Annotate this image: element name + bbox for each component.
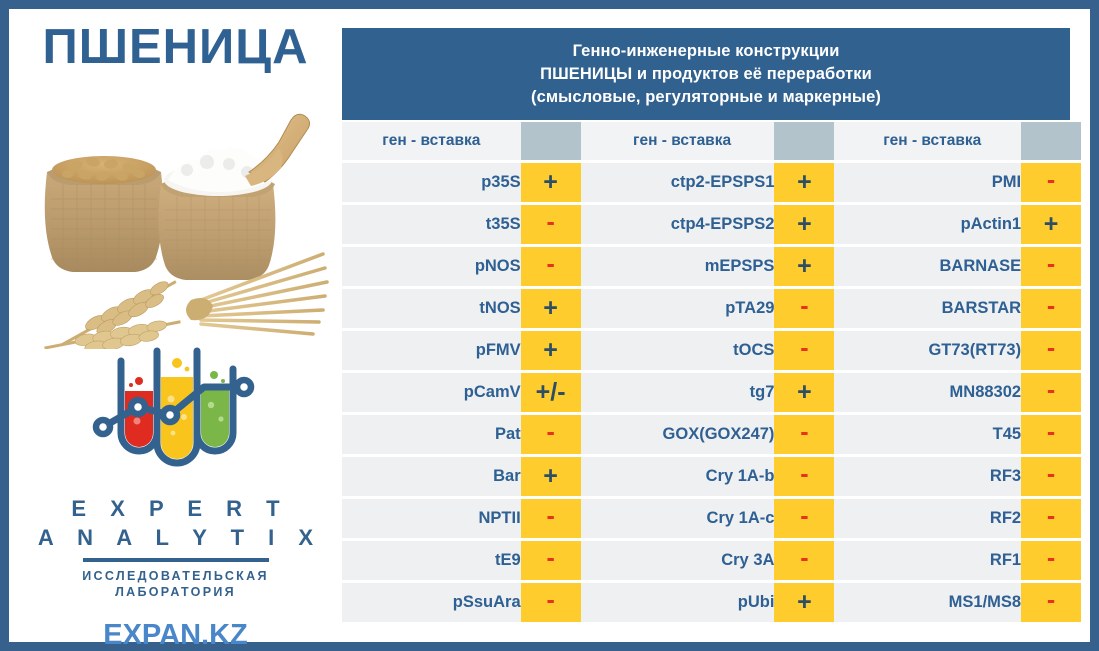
gene-marker-cell: +: [774, 373, 834, 415]
gene-constructs-table: ген - вставкаген - вставкаген - вставкаp…: [342, 122, 1081, 625]
gene-marker-cell: +: [521, 331, 581, 373]
column-header-marker-2: [774, 122, 834, 163]
gene-marker-cell: +/-: [521, 373, 581, 415]
column-gap-1: [581, 541, 590, 583]
column-gap-2: [834, 541, 843, 583]
gene-name-cell: Cry 1A-c: [590, 499, 775, 541]
table-title-line-3: (смысловые, регуляторные и маркерные): [531, 86, 881, 109]
gene-name-cell: ctp4-EPSPS2: [590, 205, 775, 247]
table-title-line-2: ПШЕНИЦЫ и продуктов её переработки: [540, 63, 872, 86]
gene-name-cell: MN88302: [843, 373, 1021, 415]
gene-name-cell: GT73(RT73): [843, 331, 1021, 373]
gene-name-cell: tg7: [590, 373, 775, 415]
column-header-marker-1: [521, 122, 581, 163]
marker-symbol: -: [1047, 460, 1055, 488]
gene-name-cell: mEPSPS: [590, 247, 775, 289]
gene-marker-cell: +: [774, 205, 834, 247]
gene-marker-cell: -: [774, 457, 834, 499]
gene-name-cell: pActin1: [843, 205, 1021, 247]
gene-marker-cell: -: [1021, 541, 1081, 583]
marker-symbol: -: [546, 418, 554, 446]
gene-marker-cell: +: [774, 583, 834, 625]
gene-name-cell: Bar: [342, 457, 521, 499]
column-gap-1: [581, 205, 590, 247]
gene-name-cell: pUbi: [590, 583, 775, 625]
logo-subtitle-line1: ИССЛЕДОВАТЕЛЬСКАЯ: [9, 568, 342, 584]
gene-name-cell: RF1: [843, 541, 1021, 583]
marker-symbol: +: [543, 462, 558, 490]
gene-name-cell: RF3: [843, 457, 1021, 499]
marker-symbol: -: [800, 544, 808, 572]
table-row: pFMV+tOCS-GT73(RT73)-: [342, 331, 1081, 373]
column-gap-2: [834, 415, 843, 457]
column-gap-2: [834, 331, 843, 373]
column-header-gene-insert-1: ген - вставка: [342, 122, 521, 163]
gene-marker-cell: +: [521, 457, 581, 499]
column-header-gene-insert-3: ген - вставка: [843, 122, 1021, 163]
table-row: pNOS-mEPSPS+BARNASE-: [342, 247, 1081, 289]
marker-symbol: -: [800, 292, 808, 320]
marker-symbol: -: [546, 250, 554, 278]
column-gap-2: [834, 122, 843, 163]
gene-marker-cell: +: [774, 247, 834, 289]
marker-symbol: -: [546, 502, 554, 530]
column-gap-2: [834, 247, 843, 289]
column-gap-2: [834, 289, 843, 331]
gene-marker-cell: -: [1021, 163, 1081, 205]
gene-marker-cell: +: [521, 163, 581, 205]
column-gap-1: [581, 122, 590, 163]
gene-marker-cell: -: [521, 583, 581, 625]
column-gap-2: [834, 373, 843, 415]
column-gap-1: [581, 289, 590, 331]
gene-marker-cell: -: [521, 541, 581, 583]
gene-marker-cell: -: [1021, 499, 1081, 541]
gene-marker-cell: -: [1021, 373, 1081, 415]
logo-word-expert: E X P E R T: [9, 496, 342, 522]
marker-symbol: -: [1047, 502, 1055, 530]
gene-name-cell: BARSTAR: [843, 289, 1021, 331]
wheat-ears: [43, 276, 185, 349]
marker-symbol: +: [543, 336, 558, 364]
gene-name-cell: pTA29: [590, 289, 775, 331]
marker-symbol: -: [1047, 586, 1055, 614]
gene-marker-cell: -: [774, 499, 834, 541]
gene-marker-cell: +: [774, 163, 834, 205]
column-gap-2: [834, 457, 843, 499]
wooden-scoop: [245, 114, 310, 186]
gene-name-cell: Cry 1A-b: [590, 457, 775, 499]
logo-subtitle-line2: ЛАБОРАТОРИЯ: [9, 584, 342, 600]
column-header-gene-insert-2: ген - вставка: [590, 122, 775, 163]
gene-name-cell: tE9: [342, 541, 521, 583]
gene-marker-cell: -: [1021, 289, 1081, 331]
column-gap-1: [581, 457, 590, 499]
column-gap-2: [834, 583, 843, 625]
marker-symbol: -: [1047, 418, 1055, 446]
test-tubes-chart-logo-icon: [81, 339, 271, 489]
marker-symbol: -: [1047, 334, 1055, 362]
grain-sack: [45, 156, 164, 272]
gene-name-cell: ctp2-EPSPS1: [590, 163, 775, 205]
gene-marker-cell: -: [774, 331, 834, 373]
gene-name-cell: pSsuAra: [342, 583, 521, 625]
table-row: pCamV+/-tg7+MN88302-: [342, 373, 1081, 415]
column-header-marker-3: [1021, 122, 1081, 163]
column-gap-1: [581, 415, 590, 457]
gene-marker-cell: -: [1021, 583, 1081, 625]
column-gap-1: [581, 163, 590, 205]
table-row: pSsuAra-pUbi+MS1/MS8-: [342, 583, 1081, 625]
left-panel: ПШЕНИЦА: [9, 9, 342, 642]
marker-symbol: +: [797, 588, 812, 616]
wheat-sacks-illustration: [31, 104, 331, 349]
marker-symbol: +: [797, 252, 812, 280]
table-row: tE9-Cry 3A-RF1-: [342, 541, 1081, 583]
gene-name-cell: pFMV: [342, 331, 521, 373]
marker-symbol: -: [800, 334, 808, 362]
gene-marker-cell: -: [521, 247, 581, 289]
gene-marker-cell: +: [1021, 205, 1081, 247]
column-gap-1: [581, 331, 590, 373]
column-gap-1: [581, 583, 590, 625]
marker-symbol: -: [800, 502, 808, 530]
gene-marker-cell: -: [521, 205, 581, 247]
table-row: Pat-GOX(GOX247)-T45-: [342, 415, 1081, 457]
marker-symbol: -: [1047, 166, 1055, 194]
logo-website-domain: EXPAN.KZ: [9, 619, 342, 651]
gene-name-cell: NPTII: [342, 499, 521, 541]
table-row: p35S+ctp2-EPSPS1+PMI-: [342, 163, 1081, 205]
column-gap-2: [834, 499, 843, 541]
marker-symbol: -: [800, 460, 808, 488]
marker-symbol: -: [546, 544, 554, 572]
gene-name-cell: Cry 3A: [590, 541, 775, 583]
gene-name-cell: T45: [843, 415, 1021, 457]
poster-root: ПШЕНИЦА: [0, 0, 1099, 651]
marker-symbol: -: [1047, 250, 1055, 278]
marker-symbol: +: [797, 168, 812, 196]
gene-name-cell: Pat: [342, 415, 521, 457]
table-area: Генно-инженерные конструкции ПШЕНИЦЫ и п…: [342, 28, 1081, 642]
gene-name-cell: p35S: [342, 163, 521, 205]
gene-marker-cell: -: [774, 289, 834, 331]
gene-marker-cell: -: [1021, 247, 1081, 289]
gene-name-cell: t35S: [342, 205, 521, 247]
gene-name-cell: BARNASE: [843, 247, 1021, 289]
gene-name-cell: RF2: [843, 499, 1021, 541]
marker-symbol: +: [543, 168, 558, 196]
gene-marker-cell: -: [521, 499, 581, 541]
table-row: NPTII-Cry 1A-c-RF2-: [342, 499, 1081, 541]
gene-marker-cell: -: [774, 415, 834, 457]
gene-marker-cell: -: [1021, 457, 1081, 499]
marker-symbol: +: [797, 210, 812, 238]
marker-symbol: +/-: [536, 378, 566, 406]
column-gap-1: [581, 499, 590, 541]
page-title: ПШЕНИЦА: [9, 19, 342, 75]
column-gap-1: [581, 373, 590, 415]
gene-marker-cell: -: [521, 415, 581, 457]
marker-symbol: +: [1044, 210, 1059, 238]
gene-marker-cell: -: [1021, 331, 1081, 373]
table-row: Bar+Cry 1A-b-RF3-: [342, 457, 1081, 499]
company-logo-block: E X P E R T A N A L Y T I X ИССЛЕДОВАТЕЛ…: [9, 339, 342, 651]
column-gap-2: [834, 163, 843, 205]
column-gap-1: [581, 247, 590, 289]
gene-name-cell: tNOS: [342, 289, 521, 331]
gene-name-cell: pNOS: [342, 247, 521, 289]
marker-symbol: -: [1047, 376, 1055, 404]
table-row: t35S-ctp4-EPSPS2+pActin1+: [342, 205, 1081, 247]
table-column-header-row: ген - вставкаген - вставкаген - вставка: [342, 122, 1081, 163]
table-title-banner: Генно-инженерные конструкции ПШЕНИЦЫ и п…: [342, 28, 1070, 120]
logo-word-analytix: A N A L Y T I X: [9, 525, 342, 551]
marker-symbol: -: [546, 208, 554, 236]
gene-marker-cell: +: [521, 289, 581, 331]
gene-name-cell: PMI: [843, 163, 1021, 205]
marker-symbol: -: [1047, 292, 1055, 320]
gene-name-cell: MS1/MS8: [843, 583, 1021, 625]
marker-symbol: -: [800, 418, 808, 446]
gene-marker-cell: -: [774, 541, 834, 583]
marker-symbol: -: [546, 586, 554, 614]
marker-symbol: +: [543, 294, 558, 322]
table-row: tNOS+pTA29-BARSTAR-: [342, 289, 1081, 331]
table-title-line-1: Генно-инженерные конструкции: [573, 40, 840, 63]
gene-marker-cell: -: [1021, 415, 1081, 457]
gene-name-cell: tOCS: [590, 331, 775, 373]
column-gap-2: [834, 205, 843, 247]
marker-symbol: -: [1047, 544, 1055, 572]
gene-name-cell: GOX(GOX247): [590, 415, 775, 457]
logo-divider: [83, 558, 269, 562]
marker-symbol: +: [797, 378, 812, 406]
gene-name-cell: pCamV: [342, 373, 521, 415]
